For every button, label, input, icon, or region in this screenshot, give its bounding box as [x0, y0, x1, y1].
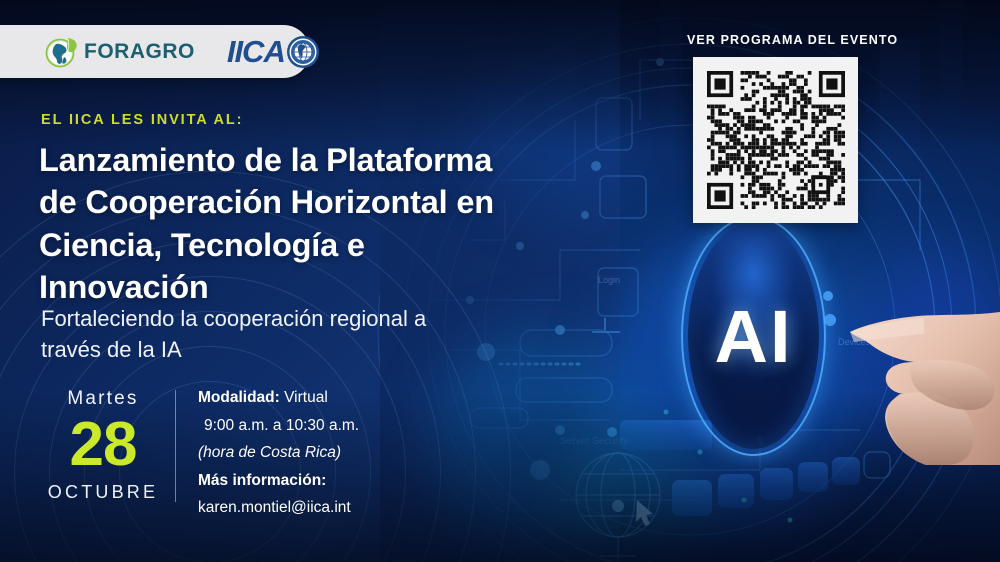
- detail-timezone: (hora de Costa Rica): [198, 444, 468, 463]
- ai-orb-label: AI: [681, 216, 826, 456]
- qr-label: VER PROGRAMA DEL EVENTO: [687, 33, 898, 47]
- iica-wordmark: IICA: [227, 34, 285, 70]
- vertical-divider: [175, 390, 176, 502]
- more-info-label: Más información:: [198, 472, 468, 491]
- date-block: Martes 28 OCTUBRE: [33, 388, 173, 503]
- page-title: Lanzamiento de la Plataforma de Cooperac…: [39, 139, 509, 308]
- contact-email[interactable]: karen.montiel@iica.int: [198, 499, 468, 518]
- qr-code-icon[interactable]: [693, 57, 858, 223]
- detail-modality: Modalidad: Virtual: [198, 389, 468, 408]
- iica-seal-icon: [286, 35, 320, 69]
- ai-orb-icon: AI: [681, 216, 826, 456]
- date-month: OCTUBRE: [33, 482, 173, 503]
- eyebrow-text: EL IICA LES INVITA AL:: [41, 112, 243, 128]
- date-day-number: 28: [33, 416, 173, 475]
- foragro-logo: FORAGRO: [44, 35, 195, 69]
- event-poster: Login Devices Server Security AI: [0, 0, 1000, 562]
- event-details: Modalidad: Virtual 9:00 a.m. a 10:30 a.m…: [198, 389, 468, 527]
- pointing-hand-icon: [840, 290, 1000, 465]
- subtitle-text: Fortaleciendo la cooperación regional a …: [41, 303, 441, 365]
- logo-bar: FORAGRO IICA: [0, 25, 310, 78]
- detail-time: 9:00 a.m. a 10:30 a.m.: [198, 417, 468, 436]
- globe-leaf-icon: [44, 35, 82, 69]
- foragro-wordmark: FORAGRO: [84, 40, 195, 64]
- date-day-of-week: Martes: [33, 388, 173, 410]
- modality-value: Virtual: [284, 389, 328, 406]
- iica-logo: IICA: [227, 34, 320, 70]
- modality-label: Modalidad:: [198, 389, 280, 406]
